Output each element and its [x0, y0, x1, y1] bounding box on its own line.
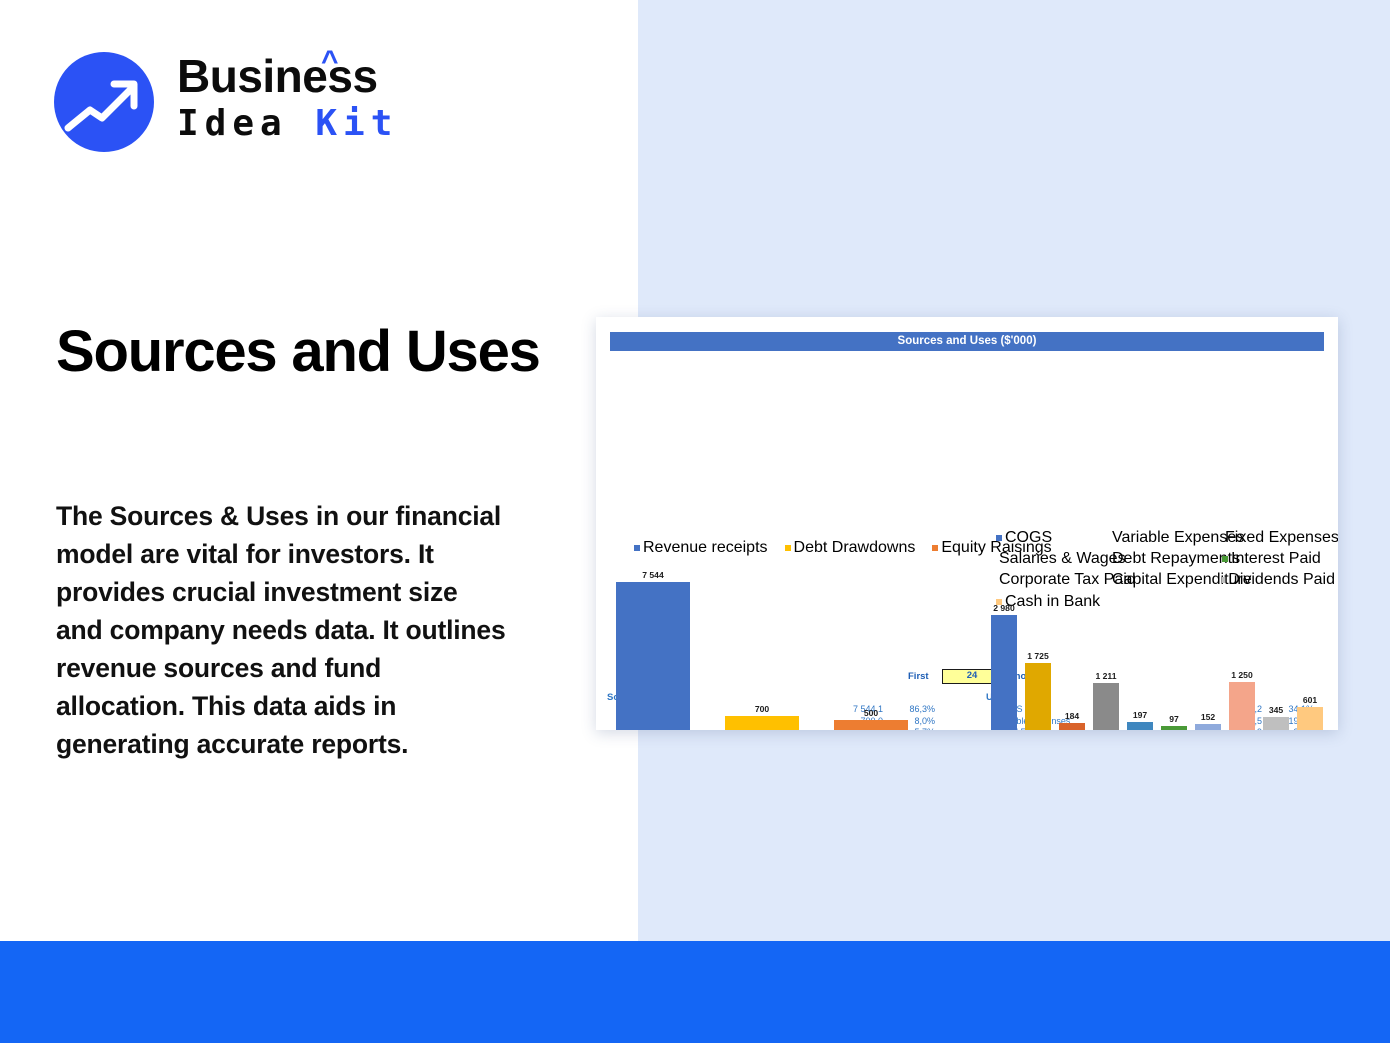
- bar-rect: [1025, 663, 1051, 730]
- legend-swatch-icon: [996, 535, 1002, 541]
- brand-name-line2: Idea Kit: [177, 102, 398, 146]
- bar-rect: [616, 582, 690, 730]
- legend-swatch-icon: [785, 545, 791, 551]
- bar-item: 700: [725, 565, 799, 730]
- legend-label: Debt Repayments: [1112, 550, 1240, 568]
- sources-chart-legend: Revenue receipts Debt Drawdowns Equity R…: [634, 539, 934, 557]
- bar-item: 2 980: [991, 598, 1017, 730]
- bar-rect: [991, 615, 1017, 730]
- bar-item: 152: [1195, 598, 1221, 730]
- legend-item: Debt Repayments: [1109, 550, 1222, 568]
- legend-swatch-icon: [1222, 556, 1228, 562]
- legend-item: Interest Paid: [1222, 550, 1335, 568]
- brand-name-idea: Idea: [177, 103, 315, 144]
- legend-row: Salaries & Wages Debt Repayments Interes…: [996, 550, 1336, 568]
- legend-item: Variable Expenses: [1109, 529, 1222, 547]
- bar-value-label: 1 725: [1027, 651, 1049, 661]
- trend-arrow-up-icon: [54, 52, 154, 152]
- page-description: The Sources & Uses in our financial mode…: [56, 497, 511, 763]
- sources-bar-chart: 7 544700500: [616, 565, 936, 730]
- legend-label: Salaries & Wages: [999, 550, 1126, 568]
- bar-value-label: 97: [1169, 714, 1179, 724]
- bar-rect: [1263, 717, 1289, 730]
- legend-item: Debt Drawdowns: [785, 539, 916, 557]
- circumflex-accent-icon: ^: [321, 47, 338, 77]
- legend-label: Revenue receipts: [643, 539, 768, 557]
- legend-row: COGS Variable Expenses Fixed Expenses: [996, 529, 1336, 547]
- bar-rect: [725, 716, 799, 730]
- bar-rect: [834, 720, 908, 730]
- bar-value-label: 601: [1303, 695, 1317, 705]
- legend-item: Dividends Paid: [1222, 571, 1335, 589]
- legend-row: Corporate Tax Paid Capital Expenditure D…: [996, 571, 1336, 589]
- bar-value-label: 7 544: [642, 570, 664, 580]
- bar-rect: [1297, 707, 1323, 730]
- legend-swatch-icon: [1222, 577, 1225, 583]
- legend-label: Interest Paid: [1231, 550, 1321, 568]
- bar-value-label: 152: [1201, 712, 1215, 722]
- bar-value-label: 345: [1269, 705, 1283, 715]
- legend-item: Capital Expenditure: [1109, 571, 1222, 589]
- legend-item: COGS: [996, 529, 1109, 547]
- spreadsheet-screenshot-card: Sources and Uses ($'000) First 24 months…: [596, 317, 1338, 730]
- legend-label: Debt Drawdowns: [794, 539, 916, 557]
- bar-item: 1 725: [1025, 598, 1051, 730]
- legend-item: Salaries & Wages: [996, 550, 1109, 568]
- brand-logo: Business ^ Idea Kit: [54, 48, 444, 160]
- bar-value-label: 2 980: [993, 603, 1015, 613]
- bar-value-label: 700: [755, 704, 769, 714]
- legend-item: Fixed Expenses: [1222, 529, 1335, 547]
- bar-rect: [1127, 722, 1153, 730]
- bar-item: 1 211: [1093, 598, 1119, 730]
- bar-value-label: 197: [1133, 710, 1147, 720]
- brand-name-line1: Business ^: [177, 50, 398, 102]
- bar-item: 1 250: [1229, 598, 1255, 730]
- bar-rect: [1229, 682, 1255, 730]
- bar-item: 601: [1297, 598, 1323, 730]
- uses-bar-chart: 2 9801 7251841 211197971521 250345601: [991, 598, 1326, 730]
- footer-bar: [0, 941, 1390, 1043]
- legend-label: COGS: [1005, 529, 1052, 547]
- legend-item: Revenue receipts: [634, 539, 768, 557]
- bar-item: 7 544: [616, 565, 690, 730]
- legend-item: Corporate Tax Paid: [996, 571, 1109, 589]
- bar-value-label: 1 211: [1095, 671, 1116, 681]
- bar-rect: [1161, 726, 1187, 730]
- bar-rect: [1093, 683, 1119, 730]
- bar-value-label: 500: [864, 708, 878, 718]
- bar-item: 500: [834, 565, 908, 730]
- brand-name-kit: Kit: [315, 103, 398, 144]
- page-title: Sources and Uses: [56, 318, 576, 386]
- sheet-title: Sources and Uses ($'000): [610, 332, 1324, 351]
- bar-rect: [1059, 723, 1085, 730]
- bar-value-label: 1 250: [1231, 670, 1253, 680]
- bar-item: 97: [1161, 598, 1187, 730]
- legend-swatch-icon: [932, 545, 938, 551]
- legend-swatch-icon: [634, 545, 640, 551]
- bar-item: 184: [1059, 598, 1085, 730]
- bar-item: 345: [1263, 598, 1289, 730]
- bar-rect: [1195, 724, 1221, 730]
- bar-item: 197: [1127, 598, 1153, 730]
- legend-label: Dividends Paid: [1228, 571, 1335, 589]
- brand-name-line1-text: Business: [177, 50, 378, 102]
- legend-label: Fixed Expenses: [1225, 529, 1338, 547]
- bar-value-label: 184: [1065, 711, 1079, 721]
